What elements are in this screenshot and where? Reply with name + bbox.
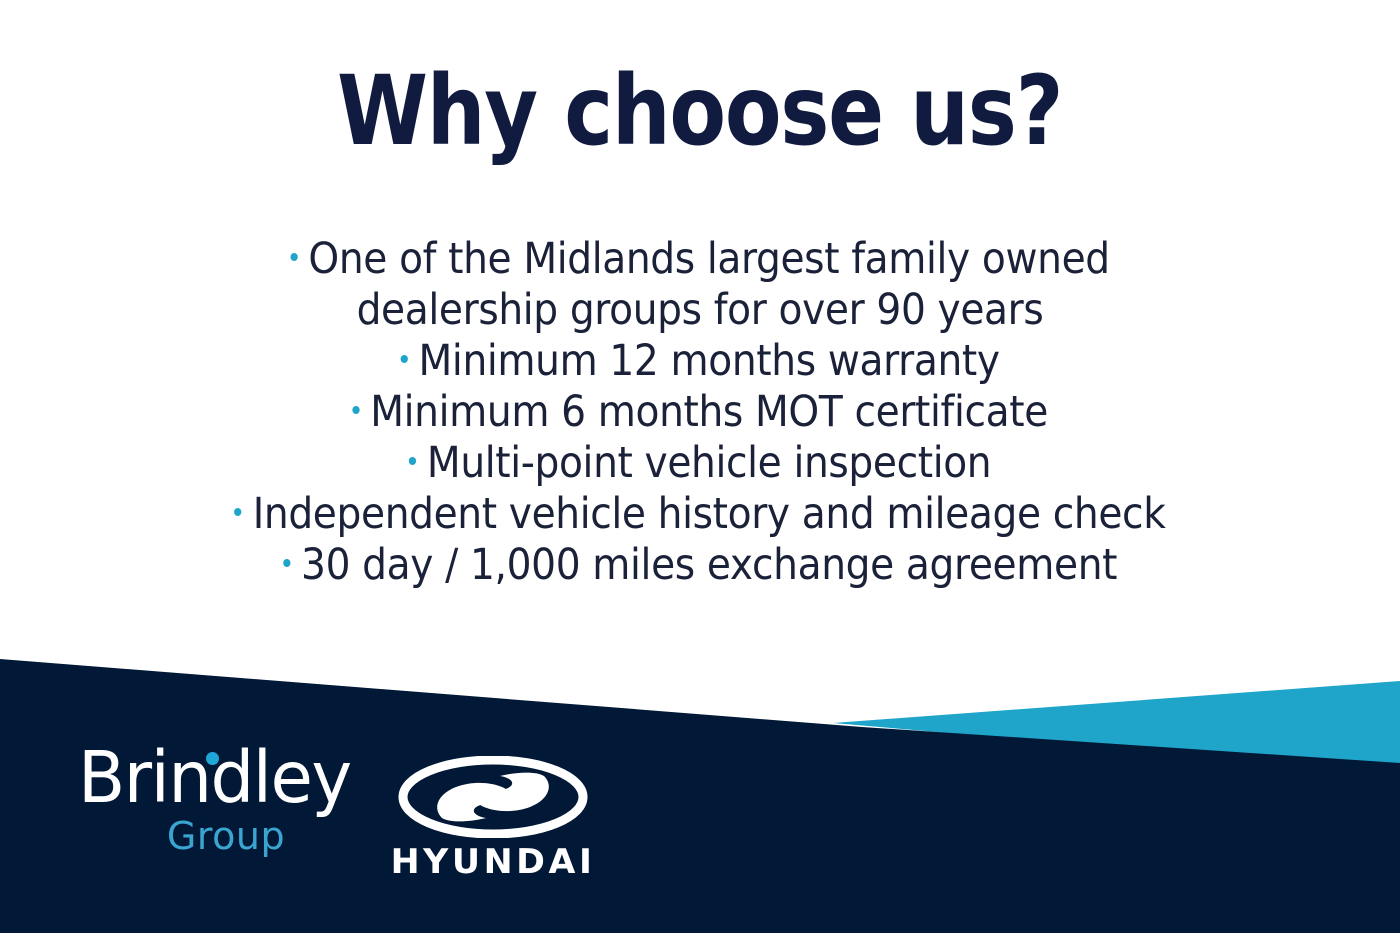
bullet-dot-icon	[409, 457, 416, 465]
bullet-dot-icon	[283, 559, 290, 567]
bullet-dot-icon	[352, 406, 359, 414]
page-title: Why choose us?	[337, 62, 1062, 162]
list-item: Independent vehicle history and mileage …	[63, 489, 1337, 540]
logo-row: Brindley Group HYUNDAI	[78, 742, 598, 880]
slide-canvas: Why choose us? One of the Midlands large…	[0, 0, 1400, 933]
list-item-label: dealership groups for over 90 years	[357, 285, 1044, 335]
brindley-group-label: Group	[78, 816, 346, 856]
list-item: 30 day / 1,000 miles exchange agreement	[63, 540, 1337, 591]
bullet-dot-icon	[290, 253, 297, 261]
list-item-label: Minimum 12 months warranty	[419, 336, 1000, 386]
bullet-dot-icon	[400, 355, 407, 363]
list-item: dealership groups for over 90 years	[63, 285, 1337, 336]
teal-wedge-shape	[833, 681, 1400, 772]
list-item-label: One of the Midlands largest family owned	[308, 234, 1109, 284]
list-item: Minimum 6 months MOT certificate	[63, 387, 1337, 438]
list-item: Minimum 12 months warranty	[63, 336, 1337, 387]
bullet-dot-icon	[235, 508, 242, 516]
list-item: Multi-point vehicle inspection	[63, 438, 1337, 489]
brindley-logo: Brindley Group	[78, 742, 346, 856]
list-item: One of the Midlands largest family owned	[63, 234, 1337, 285]
hyundai-wordmark: HYUNDAI	[386, 844, 600, 880]
hyundai-logo: HYUNDAI	[388, 742, 598, 880]
brindley-i-dot-icon	[206, 752, 219, 765]
list-item-label: Multi-point vehicle inspection	[427, 438, 991, 488]
hyundai-h-emblem-icon	[398, 756, 588, 838]
list-item-label: 30 day / 1,000 miles exchange agreement	[301, 540, 1117, 590]
title-block: Why choose us?	[0, 62, 1400, 162]
list-item-label: Independent vehicle history and mileage …	[253, 489, 1166, 539]
benefits-list: One of the Midlands largest family owned…	[0, 234, 1400, 591]
list-item-label: Minimum 6 months MOT certificate	[370, 387, 1048, 437]
